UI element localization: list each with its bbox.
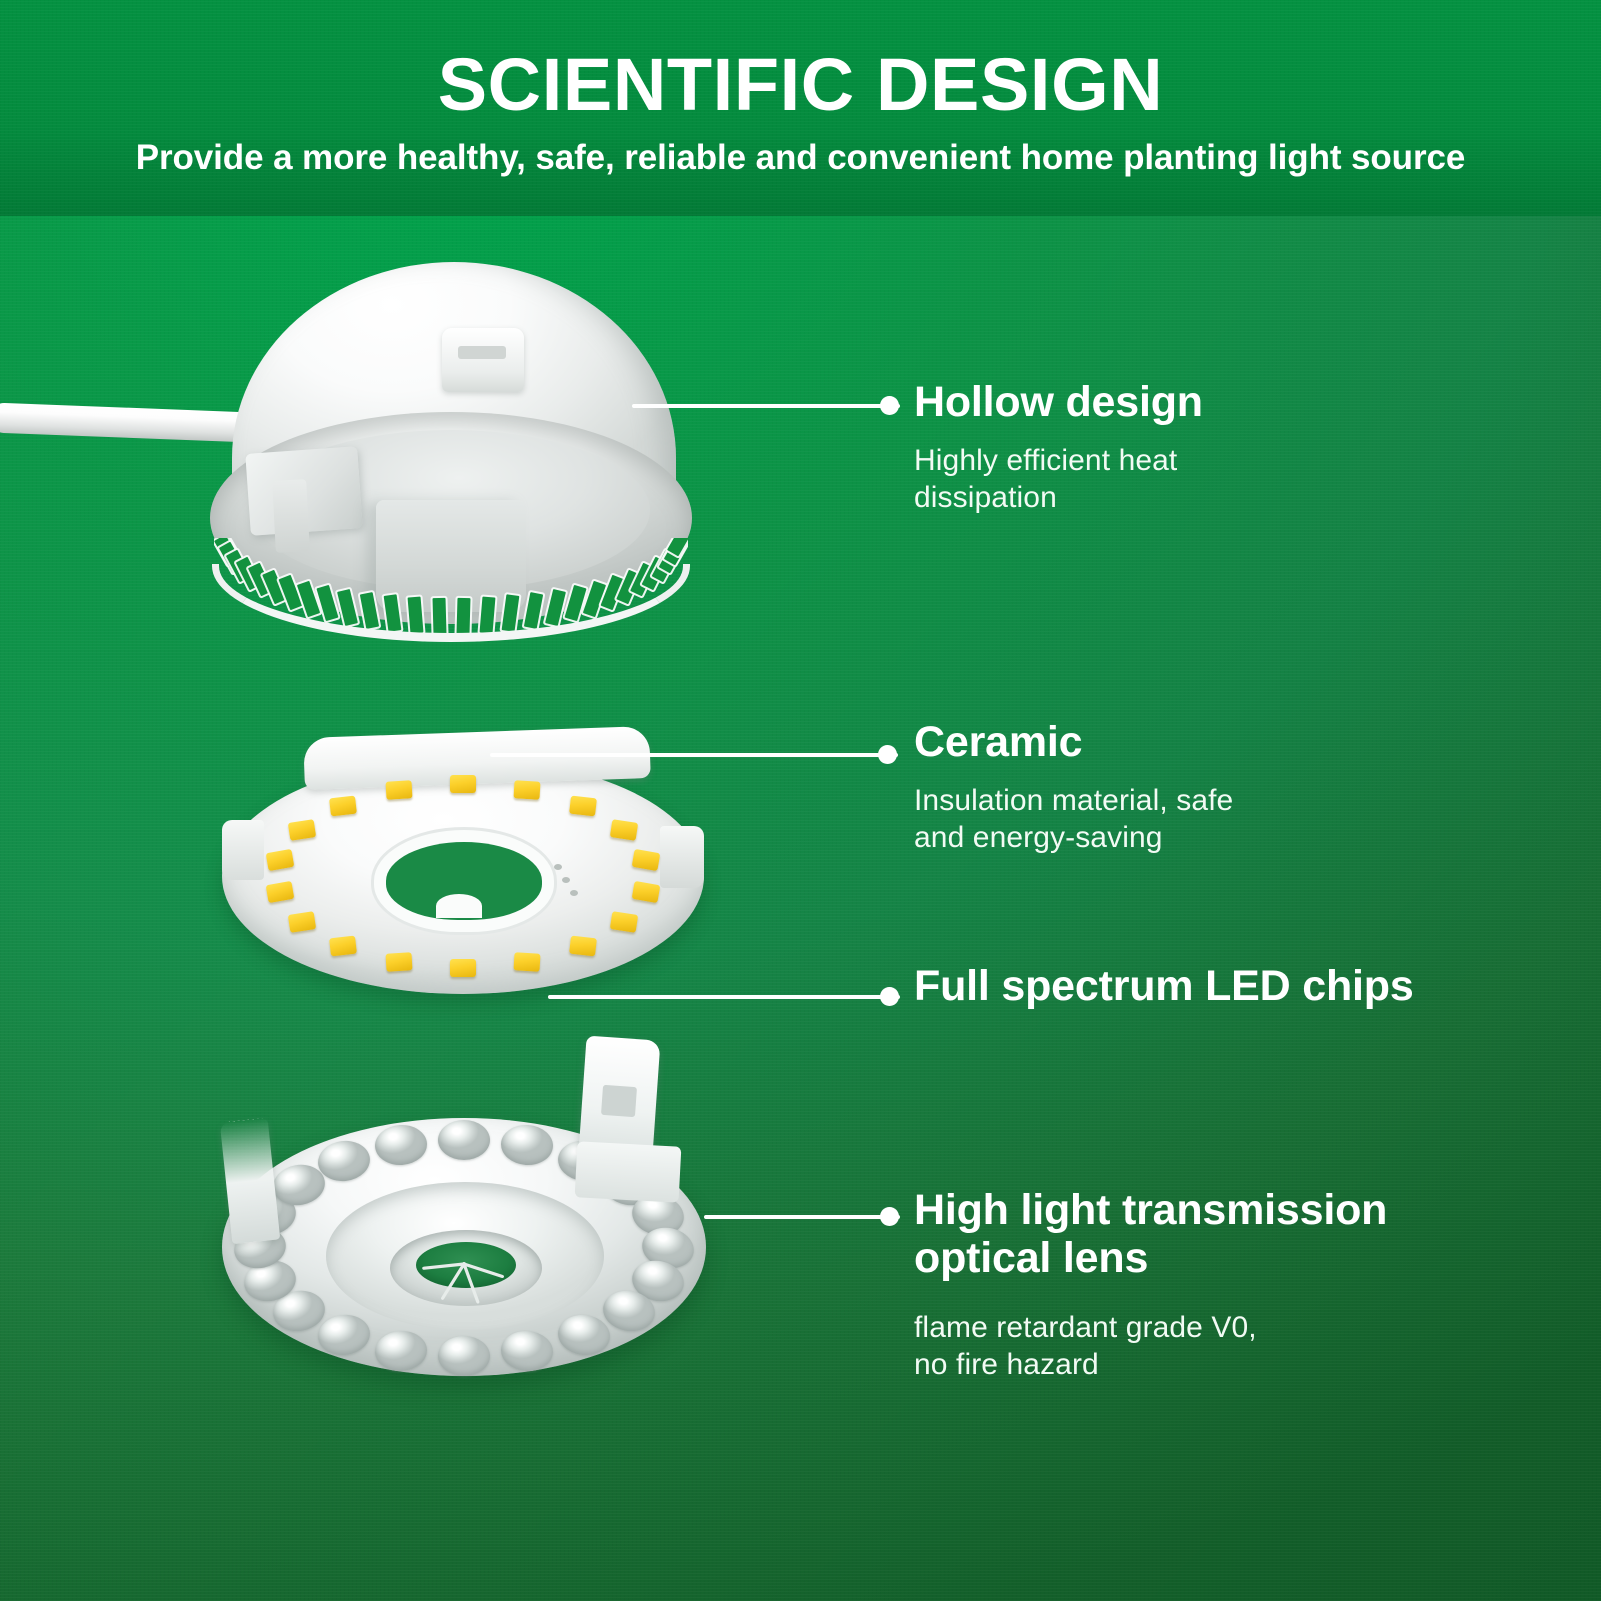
dome-clip-slot (458, 346, 506, 359)
callout-hollow-design: Hollow design Highly efficient heat diss… (914, 378, 1203, 516)
callout-led-chips: Full spectrum LED chips (914, 962, 1414, 1010)
lens-dome-cell (438, 1336, 490, 1376)
led-chip (450, 959, 476, 977)
leader-dot-ceramic (878, 745, 897, 764)
leader-dot-led-chips (880, 987, 899, 1006)
dome-top-clip (442, 328, 524, 392)
led-chip (513, 953, 540, 973)
lens-hub-spokes (420, 1244, 512, 1286)
callout-ceramic: Ceramic Insulation material, safe and en… (914, 718, 1233, 856)
callout-title: Full spectrum LED chips (914, 962, 1414, 1010)
led-chip (330, 795, 358, 816)
lens-right-clip-slot (601, 1085, 637, 1117)
solder-pad (562, 877, 570, 883)
disc-right-tab (660, 826, 704, 888)
lens-right-clip-foot (575, 1141, 682, 1202)
leader-line-hollow-design (632, 404, 900, 408)
callout-subtitle: Insulation material, safe and energy-sav… (914, 783, 1233, 856)
page-title: SCIENTIFIC DESIGN (0, 0, 1601, 124)
leader-line-led-chips (548, 995, 900, 999)
led-chip (569, 936, 597, 957)
led-chip (386, 953, 413, 973)
led-chip (288, 911, 316, 933)
infographic-canvas: SCIENTIFIC DESIGN Provide a more healthy… (0, 0, 1601, 1601)
leader-line-optical-lens (704, 1215, 900, 1219)
leader-dot-optical-lens (880, 1207, 899, 1226)
led-chip (288, 819, 316, 841)
led-chip (386, 780, 413, 800)
header: SCIENTIFIC DESIGN Provide a more healthy… (0, 0, 1601, 178)
leader-dot-hollow-design (880, 396, 899, 415)
callout-optical-lens: High light transmission optical lens fla… (914, 1186, 1387, 1384)
callout-title: Hollow design (914, 378, 1203, 426)
solder-pad (554, 864, 562, 870)
led-chip (330, 936, 358, 957)
callout-subtitle: Highly efficient heat dissipation (914, 443, 1203, 516)
led-chip (569, 795, 597, 816)
callout-title: Ceramic (914, 718, 1233, 766)
leader-line-ceramic (490, 753, 898, 757)
solder-pad (570, 890, 578, 896)
led-chip (610, 911, 638, 933)
disc-left-tab (222, 820, 264, 880)
led-chip (450, 775, 476, 793)
optical-lens-disc (204, 1034, 744, 1414)
hollow-dome-housing (196, 262, 706, 662)
led-chip (610, 819, 638, 841)
lens-dome-cell (438, 1120, 490, 1160)
led-chip (513, 780, 540, 800)
disc-center-notch (436, 894, 482, 918)
callout-title: High light transmission optical lens (914, 1186, 1387, 1282)
page-subtitle: Provide a more healthy, safe, reliable a… (0, 124, 1601, 178)
ceramic-led-disc (214, 722, 714, 1018)
callout-subtitle: flame retardant grade V0, no fire hazard (914, 1310, 1387, 1383)
